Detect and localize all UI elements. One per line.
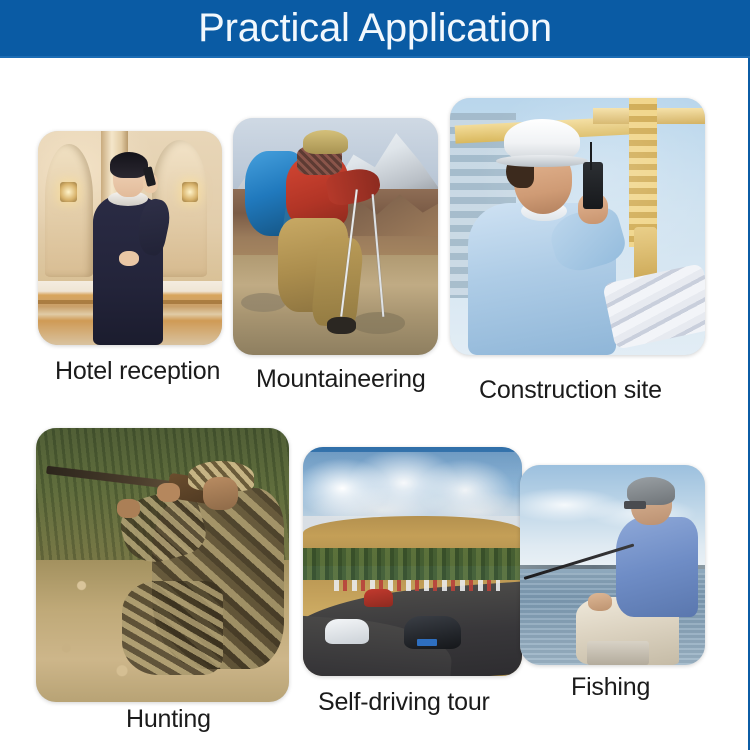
- angler-shirt: [616, 517, 697, 617]
- white-car: [325, 619, 369, 644]
- parked-car-row: [334, 580, 500, 591]
- eyeglasses-icon: [624, 501, 646, 509]
- application-card-self-driving-tour[interactable]: [303, 447, 522, 676]
- hiker-hat: [303, 130, 348, 154]
- radio-antenna-icon: [590, 142, 592, 170]
- angler-hand: [588, 593, 612, 611]
- ground-rock-patch-right: [352, 312, 405, 333]
- card-caption-mountaineering: Mountaineering: [256, 365, 426, 394]
- hiker-rear-leg: [310, 234, 364, 328]
- photo-self-driving-tour: [303, 447, 522, 676]
- photo-mountaineering: [233, 118, 438, 355]
- two-way-radio-icon: [583, 162, 603, 208]
- card-caption-hunting: Hunting: [126, 705, 211, 734]
- hunter-camo-legs: [122, 581, 223, 674]
- card-caption-hotel-reception: Hotel reception: [55, 357, 220, 386]
- card-caption-fishing: Fishing: [571, 673, 650, 702]
- hunter-support-hand: [117, 499, 140, 518]
- application-card-fishing[interactable]: [520, 465, 705, 665]
- hiking-boot: [327, 317, 356, 334]
- page-title: Practical Application: [0, 0, 750, 58]
- hard-hat-brim: [496, 155, 588, 168]
- application-card-mountaineering[interactable]: [233, 118, 438, 355]
- photo-construction-site: [450, 98, 705, 355]
- card-caption-construction-site: Construction site: [479, 376, 662, 405]
- card-caption-self-driving-tour: Self-driving tour: [318, 688, 490, 717]
- wall-sconce-right-icon: [182, 182, 199, 201]
- license-plate: [417, 639, 437, 646]
- hunter-trigger-hand: [157, 483, 180, 502]
- header-banner: Practical Application: [0, 0, 750, 58]
- wall-sconce-left-icon: [60, 182, 77, 201]
- application-card-construction-site[interactable]: [450, 98, 705, 355]
- application-card-hunting[interactable]: [36, 428, 289, 702]
- application-card-hotel-reception[interactable]: [38, 131, 222, 345]
- photo-fishing: [520, 465, 705, 665]
- photo-hunting: [36, 428, 289, 702]
- infographic-page: Practical Application Hotel reception: [0, 0, 750, 750]
- receptionist-lower-hand: [119, 251, 139, 266]
- hunter-face: [203, 477, 238, 510]
- photo-hotel-reception: [38, 131, 222, 345]
- receptionist-hair: [110, 152, 149, 178]
- folding-stool: [587, 641, 650, 665]
- lobby-arch-left: [45, 144, 93, 277]
- red-car: [364, 589, 392, 607]
